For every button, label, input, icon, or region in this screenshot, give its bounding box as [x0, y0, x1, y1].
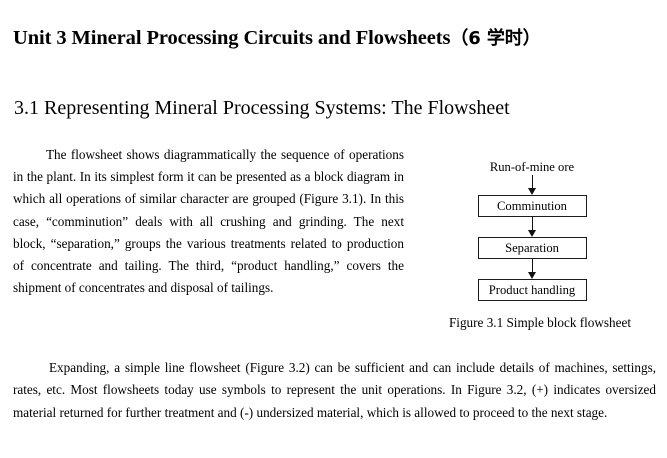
body-full-text: Expanding, a simple line flowsheet (Figu… [13, 357, 656, 424]
arrow-head [528, 272, 536, 279]
figure-3-1: Run-of-mine ore Comminution Separation P… [420, 160, 660, 331]
paragraph-flowsheet-description: The flowsheet shows diagrammatically the… [13, 144, 404, 299]
flow-block-comminution: Comminution [478, 195, 587, 217]
page-title-english: Unit 3 Mineral Processing Circuits and F… [13, 27, 450, 49]
page-title-chinese: （6 学时） [450, 28, 540, 49]
figure-block-stack: Comminution Separation Product handling [420, 175, 644, 301]
paragraph-line-flowsheet: Expanding, a simple line flowsheet (Figu… [13, 357, 656, 424]
arrow-down-icon [528, 217, 537, 237]
arrow-down-icon [528, 175, 537, 195]
arrow-head [528, 188, 536, 195]
arrow-head [528, 230, 536, 237]
arrow-down-icon [528, 259, 537, 279]
page-title: Unit 3 Mineral Processing Circuits and F… [13, 26, 667, 52]
figure-caption: Figure 3.1 Simple block flowsheet [420, 315, 660, 331]
body-column-text: The flowsheet shows diagrammatically the… [13, 144, 404, 299]
section-heading: 3.1 Representing Mineral Processing Syst… [14, 95, 510, 121]
document-page: Unit 3 Mineral Processing Circuits and F… [0, 0, 667, 458]
flow-block-product-handling: Product handling [478, 279, 587, 301]
flow-block-separation: Separation [478, 237, 587, 259]
figure-input-label: Run-of-mine ore [420, 160, 644, 175]
